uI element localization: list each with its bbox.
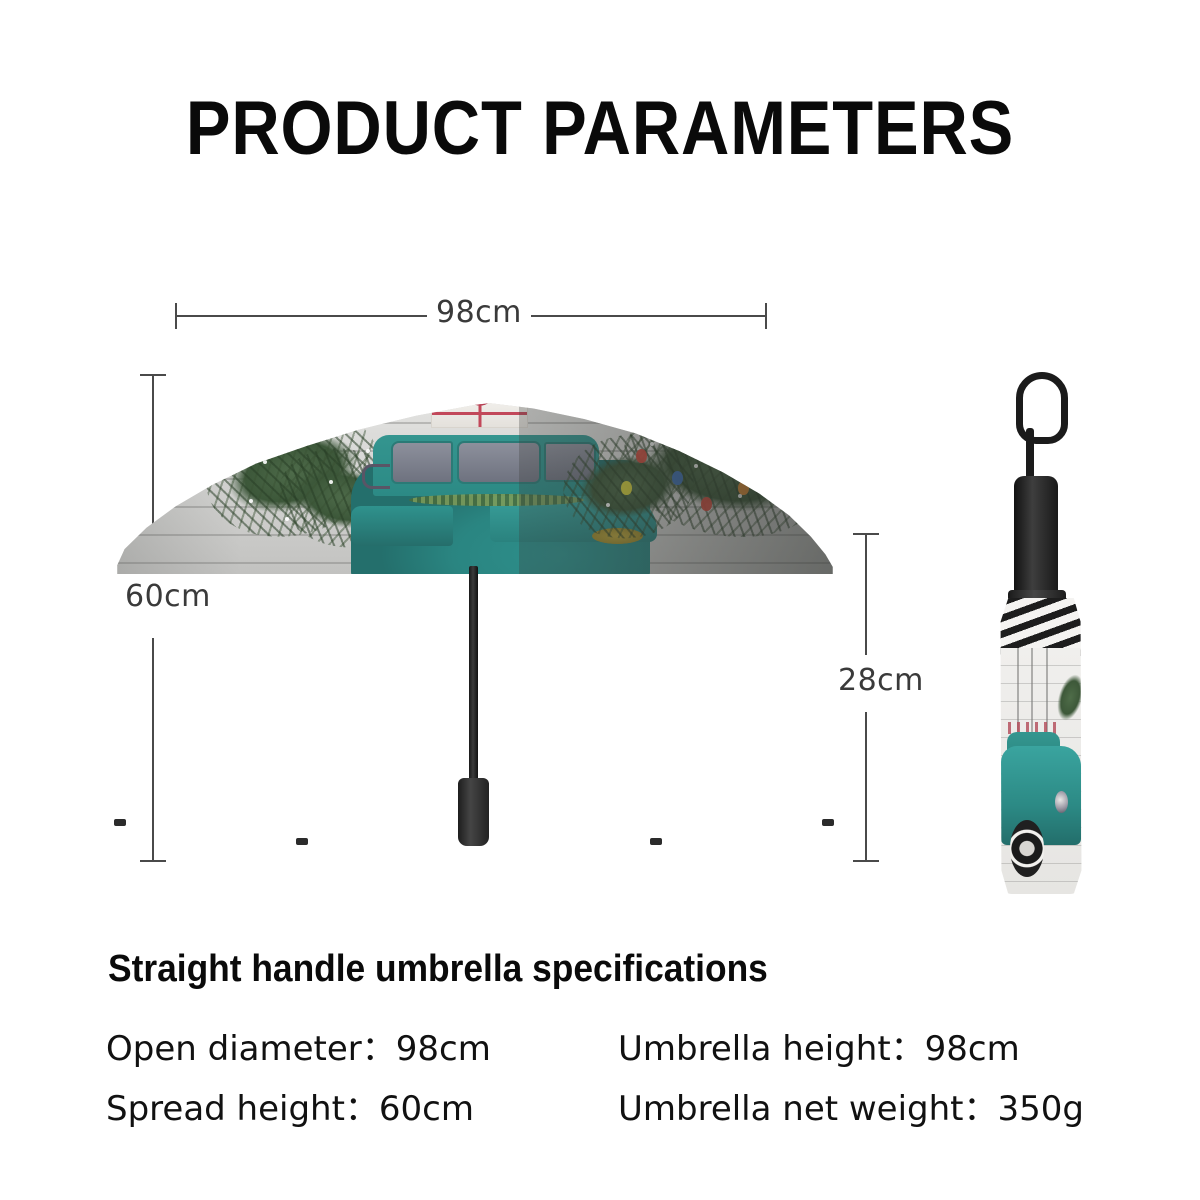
light-bulb-icon	[687, 435, 698, 449]
dimension-cap-right	[765, 303, 767, 329]
wrist-strap-icon	[1016, 372, 1068, 444]
strap-tail	[1026, 428, 1034, 480]
umbrella-shaft	[469, 566, 478, 788]
umbrella-canopy	[110, 396, 840, 574]
spec-row: Open diameter：98cm Umbrella height：98cm	[106, 1026, 1106, 1072]
specifications-heading: Straight handle umbrella specifications	[108, 946, 768, 992]
light-bulb-icon	[752, 432, 763, 446]
snow-fleck	[307, 428, 311, 432]
truck-wheel-icon	[1010, 820, 1044, 877]
folded-umbrella-illustration	[990, 372, 1100, 892]
canopy-rib-tip	[296, 838, 308, 845]
spec-net-weight: Umbrella net weight：350g	[618, 1086, 1088, 1132]
canopy-rib-tip	[114, 819, 126, 826]
spec-umbrella-height: Umbrella height：98cm	[618, 1026, 1088, 1072]
folded-canopy-print	[998, 648, 1084, 894]
dimension-label-width: 98cm	[427, 296, 531, 330]
canopy-rib-tip	[822, 819, 834, 826]
open-umbrella-illustration	[110, 396, 840, 856]
gift-box-icon	[431, 398, 528, 428]
spec-spread-height: Spread height：60cm	[106, 1086, 618, 1132]
dimension-cap-bottom	[853, 860, 879, 862]
snow-fleck	[329, 480, 333, 484]
snow-fleck	[774, 449, 778, 453]
spec-open-diameter: Open diameter：98cm	[106, 1026, 618, 1072]
snow-fleck	[249, 499, 253, 503]
light-bulb-icon	[658, 421, 669, 435]
dimension-line-vertical-upper	[865, 533, 867, 655]
light-bulb-icon	[716, 455, 727, 469]
canopy-rib-tip	[650, 838, 662, 845]
dimension-cap-bottom	[140, 860, 166, 862]
spec-row: Spread height：60cm Umbrella net weight：3…	[106, 1086, 1106, 1132]
product-parameters-page: PRODUCT PARAMETERS 98cm 60cm 28cm	[0, 0, 1200, 1200]
folded-umbrella-handle	[1014, 476, 1058, 596]
light-bulb-icon	[767, 464, 778, 478]
umbrella-handle	[458, 778, 489, 846]
snow-fleck	[227, 435, 231, 439]
dimension-line-vertical-lower	[865, 712, 867, 862]
snow-fleck	[366, 449, 370, 453]
specifications-table: Open diameter：98cm Umbrella height：98cm …	[106, 1026, 1106, 1146]
dimension-label-folded: 28cm	[829, 664, 933, 698]
folded-umbrella-body	[998, 598, 1084, 894]
page-title: PRODUCT PARAMETERS	[72, 86, 1128, 172]
canopy-shadow-panel	[519, 396, 840, 574]
